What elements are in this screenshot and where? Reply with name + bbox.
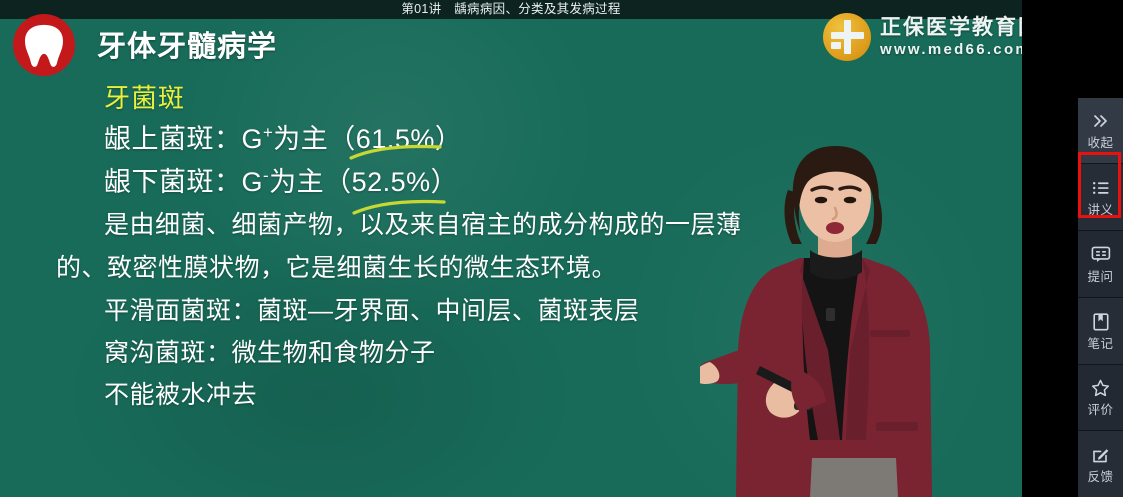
sidebar-item-handout[interactable]: 讲义	[1078, 164, 1123, 230]
tool-sidebar: 收起 讲义	[1078, 0, 1123, 497]
background-shadow-lower	[60, 230, 580, 497]
list-icon	[1092, 177, 1110, 199]
superscript-plus: +	[263, 123, 273, 142]
line-subgingival-plaque-tail: 为主（52.5%）	[269, 167, 458, 197]
sidebar-item-feedback[interactable]: 反馈	[1078, 431, 1123, 497]
superscript-minus: -	[263, 166, 269, 185]
page-title: 牙体牙髓病学	[97, 23, 277, 65]
brand-name: 正保医学教育网	[880, 16, 1022, 40]
book-icon	[1093, 311, 1109, 333]
sidebar-item-handout-label: 讲义	[1087, 203, 1113, 217]
annotation-underline-525	[350, 196, 450, 218]
line-definition-part2: 的、致密性膜状物，它是细菌生长的微生态环境。	[56, 248, 617, 284]
sidebar-item-rating-label: 评价	[1087, 403, 1113, 417]
sidebar-item-question-label: 提问	[1087, 270, 1113, 284]
line-definition-part1: 是由细菌、细菌产物，以及来自宿主的成分构成的一层薄	[104, 205, 742, 241]
video-player-page: 第01讲 龋病病因、分类及其发病过程 牙体牙髓病学 正保医学教育网 www.me…	[0, 0, 1123, 497]
presenter-figure	[700, 140, 1022, 497]
slide-heading: 牙菌斑	[104, 78, 185, 115]
sidebar-item-collapse[interactable]: 收起	[1078, 98, 1123, 164]
line-supragingival-plaque-tail: 为主（61.5%）	[273, 124, 462, 154]
line-subgingival-plaque-head: 龈下菌斑：G	[104, 167, 263, 197]
edit-square-icon	[1092, 444, 1110, 466]
line-subgingival-plaque: 龈下菌斑：G-为主（52.5%）	[104, 160, 458, 199]
sidebar-top-spacer	[1078, 0, 1123, 98]
sidebar-item-question[interactable]: 提问	[1078, 231, 1123, 297]
line-not-rinsed-away: 不能被水冲去	[104, 375, 257, 411]
brand-watermark: 正保医学教育网 www.med66.com	[823, 13, 1022, 61]
sidebar-item-notes[interactable]: 笔记	[1078, 298, 1123, 364]
sidebar-item-feedback-label: 反馈	[1087, 470, 1113, 484]
background-glow-right	[620, 120, 1000, 497]
brand-url: www.med66.com	[880, 40, 1022, 59]
line-pit-fissure-plaque: 窝沟菌斑：微生物和食物分子	[104, 333, 436, 369]
speech-bubble-icon	[1091, 244, 1111, 266]
tooth-glyph	[22, 23, 66, 69]
slide-text-block: 牙菌斑 龈上菌斑：G+为主（61.5%） 龈下菌斑：G-为主（52.5%） 是由…	[0, 0, 1022, 497]
video-stage[interactable]: 第01讲 龋病病因、分类及其发病过程 牙体牙髓病学 正保医学教育网 www.me…	[0, 0, 1022, 497]
line-supragingival-plaque-head: 龈上菌斑：G	[104, 124, 263, 154]
sidebar-item-notes-label: 笔记	[1087, 337, 1113, 351]
annotation-underline-615	[348, 142, 448, 164]
sidebar-item-rating[interactable]: 评价	[1078, 365, 1123, 431]
star-icon	[1091, 377, 1110, 399]
chevron-double-right-icon	[1092, 110, 1110, 132]
tooth-icon	[13, 14, 75, 76]
cross-circle-icon	[823, 13, 871, 61]
line-supragingival-plaque: 龈上菌斑：G+为主（61.5%）	[104, 117, 462, 156]
sidebar-item-collapse-label: 收起	[1087, 136, 1113, 150]
line-smooth-surface-plaque: 平滑面菌斑：菌斑—牙界面、中间层、菌斑表层	[104, 291, 640, 327]
